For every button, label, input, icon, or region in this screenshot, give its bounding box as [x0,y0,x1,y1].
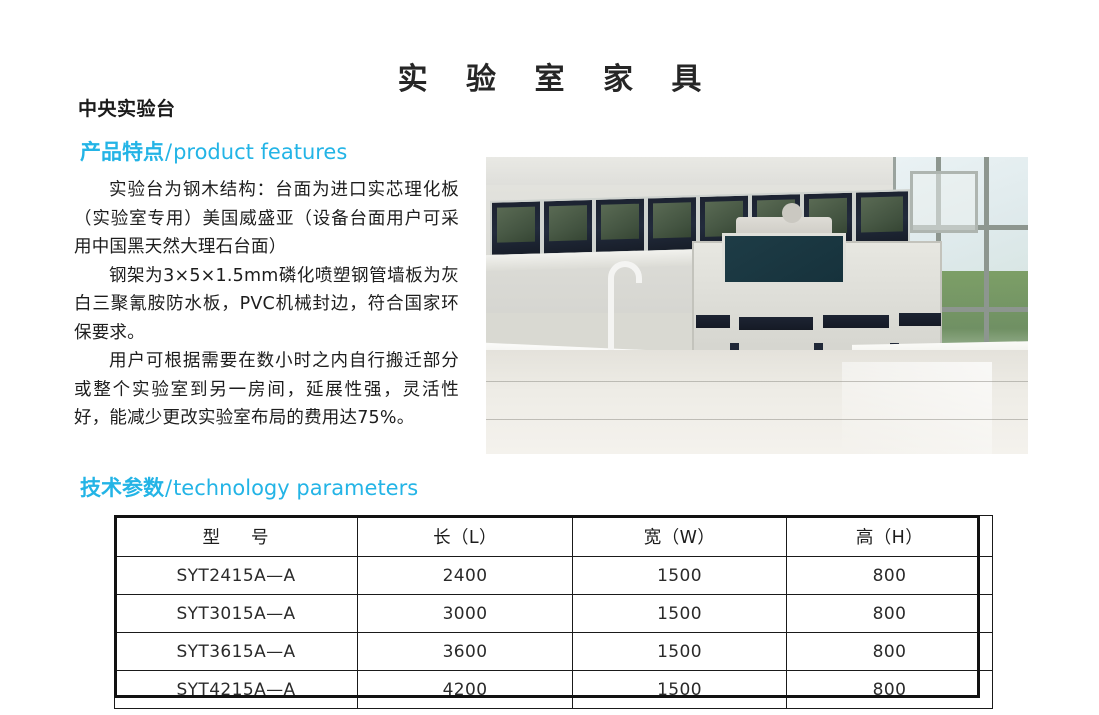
product-features-heading-slash: / [164,140,173,164]
photo-window-mullion [984,157,989,367]
photo-shelf-band [899,313,941,326]
photo-fume-enclosure [722,233,846,285]
column-header-height: 高（H） [787,516,993,557]
cell-model: SYT2415A—A [115,557,358,595]
column-header-model-right: 号 [251,528,270,548]
page-root: 实 验 室 家 具 中央实验台 产品特点/product features 实验… [0,0,1099,715]
photo-faucet [608,277,614,355]
product-features-body: 实验台为钢木结构：台面为进口实芯理化板（实验室专用）美国威盛亚（设备台面用户可采… [74,176,459,433]
cell-model: SYT3015A—A [115,595,358,633]
cell-length: 4200 [358,671,573,709]
photo-floor [486,350,1028,454]
product-features-heading: 产品特点/product features [80,136,347,166]
technology-parameters-heading-cn: 技术参数 [80,476,164,500]
table-row: SYT2415A—A 2400 1500 800 [115,557,993,595]
laboratory-bench-photo [486,157,1028,454]
photo-shelf-band [696,315,730,328]
cell-length: 3000 [358,595,573,633]
photo-wall-cabinet [854,189,910,247]
table-row: SYT3015A—A 3000 1500 800 [115,595,993,633]
column-header-width: 宽（W） [573,516,787,557]
cell-model: SYT4215A—A [115,671,358,709]
cell-width: 1500 [573,595,787,633]
cell-width: 1500 [573,633,787,671]
feature-paragraph-3: 用户可根据需要在数小时之内自行搬迁部分或整个实验室到另一房间，延展性强，灵活性好… [74,347,459,433]
photo-floor-reflection [842,362,992,454]
feature-paragraph-2: 钢架为3×5×1.5mm磷化喷塑钢管墙板为灰白三聚氰胺防水板，PVC机械封边，符… [74,262,459,348]
cell-width: 1500 [573,557,787,595]
cell-height: 800 [787,595,993,633]
photo-scene [486,157,1028,454]
table-row: SYT3615A—A 3600 1500 800 [115,633,993,671]
page-title: 实 验 室 家 具 [0,54,1099,98]
cell-model: SYT3615A—A [115,633,358,671]
cell-height: 800 [787,671,993,709]
photo-floor-seam [486,381,1028,382]
photo-shelf-band [823,315,889,328]
photo-floor-seam [486,419,1028,420]
photo-duct-pipe [782,203,802,223]
photo-wall-cabinet [594,197,646,254]
cell-height: 800 [787,557,993,595]
technology-parameters-heading: 技术参数/technology parameters [80,472,418,502]
section-title: 中央实验台 [78,94,176,121]
product-features-heading-cn: 产品特点 [80,140,164,164]
photo-wall-cabinet [646,195,698,252]
product-features-heading-en: product features [173,140,347,164]
feature-paragraph-1: 实验台为钢木结构：台面为进口实芯理化板（实验室专用）美国威盛亚（设备台面用户可采… [74,176,459,262]
technology-parameters-heading-en: technology parameters [173,476,418,500]
photo-wall-cabinet [490,199,542,256]
cell-height: 800 [787,633,993,671]
photo-shelf-band [739,317,813,330]
cell-width: 1500 [573,671,787,709]
column-header-length: 长（L） [358,516,573,557]
photo-wall-cabinet [542,198,594,255]
cell-length: 3600 [358,633,573,671]
column-header-model-left: 型 [203,528,222,548]
technology-parameters-heading-slash: / [164,476,173,500]
parameters-table: 型号 长（L） 宽（W） 高（H） SYT2415A—A 2400 1500 8… [114,515,993,709]
table-header-row: 型号 长（L） 宽（W） 高（H） [115,516,993,557]
photo-window-sash [910,171,978,233]
cell-length: 2400 [358,557,573,595]
table-row: SYT4215A—A 4200 1500 800 [115,671,993,709]
column-header-model: 型号 [115,516,358,557]
